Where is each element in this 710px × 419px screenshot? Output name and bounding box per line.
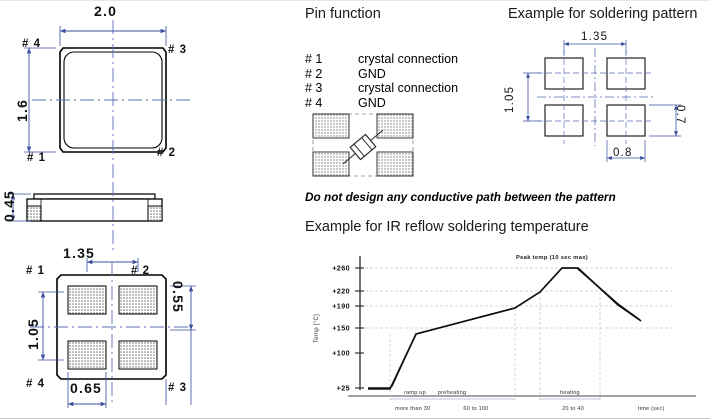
sp-label-y: 1.05 [504, 86, 516, 113]
soldering-pattern-heading: Example for soldering pattern [508, 6, 697, 22]
mechanical-drawings-svg [0, 0, 300, 419]
reflow-chart: +260 +220 +190 +150 +100 +25 Temp [°C] P… [300, 248, 710, 418]
pin-function-row: # 2 GND [305, 67, 495, 82]
pin-function-text: GND [358, 67, 386, 82]
dim-label-width-top: 2.0 [94, 3, 117, 19]
zone-label-ramp-up: ramp up [404, 390, 426, 396]
chart-ylabel: Temp [°C] [314, 314, 320, 343]
pin-label-bottom-4: # 4 [26, 378, 45, 390]
dim-label-pad-height: 0.55 [170, 281, 186, 313]
pin-label-top-4: # 4 [22, 38, 41, 50]
pin-label-top-2: # 2 [157, 147, 176, 159]
inner-pad-tr [377, 114, 413, 138]
internal-construction-diagram [303, 108, 423, 183]
ytick-260: +260 [332, 264, 350, 273]
pin-function-text: crystal connection [358, 81, 458, 96]
reflow-heading: Example for IR reflow soldering temperat… [305, 219, 589, 235]
ytick-100: +100 [332, 349, 350, 358]
sp-label-pad-w: 0.8 [613, 147, 633, 159]
pin-function-row: # 3 crystal connection [305, 81, 495, 96]
duration-heating: 20 to 40 [562, 406, 584, 412]
duration-ramp-up: more than 30 [395, 406, 430, 412]
sp-label-pad-h: 0.7 [674, 105, 686, 125]
reflow-profile-line [368, 268, 640, 388]
ytick-220: +220 [332, 287, 350, 296]
pin-number: # 3 [305, 81, 358, 96]
pin-function-heading: Pin function [305, 6, 381, 22]
chart-zone-dividers [390, 292, 600, 400]
zone-label-preheating: preheating [438, 390, 466, 396]
chart-gridlines [360, 268, 672, 328]
side-view-drawing [8, 182, 162, 250]
inner-pad-tl [313, 114, 349, 138]
peak-temp-annotation: Peak temp (10 sec max) [516, 255, 588, 261]
conductive-path-note: Do not design any conductive path betwee… [305, 190, 616, 204]
terminal-right-side [148, 206, 162, 221]
sp-label-x: 1.35 [581, 31, 608, 43]
pin-number: # 2 [305, 67, 358, 82]
pin-number: # 1 [305, 52, 358, 67]
package-body-side [27, 199, 162, 221]
package-lid-side [34, 194, 155, 199]
page-top-divider [0, 0, 710, 1]
ytick-25: +25 [337, 384, 350, 393]
pad-3 [119, 341, 157, 369]
inner-pad-br [377, 152, 413, 176]
datasheet-page: 2.0 1.6 # 4 # 3 # 1 # 2 0.45 1.35 1.05 0… [0, 0, 710, 419]
pin-function-table: # 1 crystal connection # 2 GND # 3 cryst… [305, 52, 495, 110]
soldering-pattern-svg [505, 30, 705, 170]
dim-label-pitch-y: 1.05 [25, 318, 41, 350]
zone-label-heating: heating [560, 390, 580, 396]
pin-function-row: # 1 crystal connection [305, 52, 495, 67]
pin-label-bottom-2: # 2 [131, 265, 150, 277]
ytick-190: +190 [332, 302, 350, 311]
pin-label-bottom-1: # 1 [26, 265, 45, 277]
dim-label-pad-width: 0.65 [70, 380, 102, 396]
pin-function-text: crystal connection [358, 52, 458, 67]
dim-label-height-top: 1.6 [14, 99, 30, 122]
terminal-left-side [27, 206, 41, 221]
pin-label-top-3: # 3 [168, 44, 187, 56]
chart-xlabel: time (sec) [638, 406, 665, 412]
dim-label-pitch-x: 1.35 [63, 245, 95, 261]
dim-label-thickness: 0.45 [1, 190, 17, 222]
pad-1 [68, 286, 106, 314]
duration-preheating: 60 to 100 [463, 406, 488, 412]
ytick-150: +150 [332, 324, 350, 333]
crystal-blank [350, 134, 376, 159]
pad-2 [119, 286, 157, 314]
pad-4 [68, 341, 106, 369]
pin-label-top-1: # 1 [27, 152, 46, 164]
pin-label-bottom-3: # 3 [168, 382, 187, 394]
